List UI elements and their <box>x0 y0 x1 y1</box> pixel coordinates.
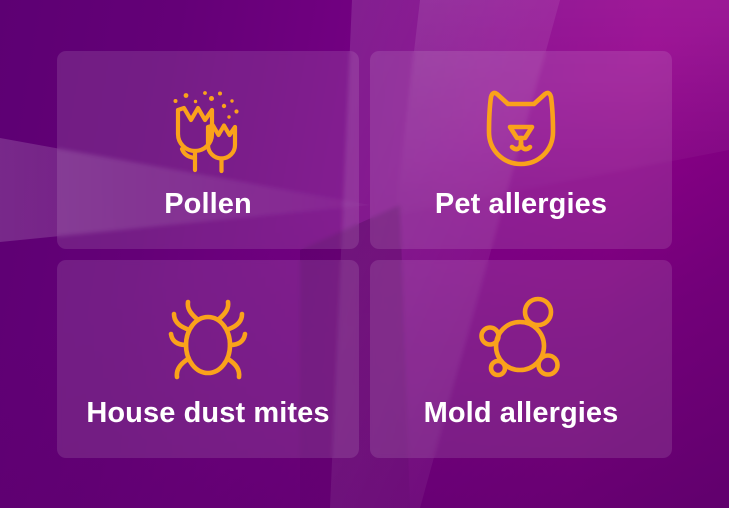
icon-wrap-mold-allergies <box>476 293 566 385</box>
allergy-card-grid: Pollen Pet allergies <box>57 51 672 458</box>
icon-wrap-house-dust-mites <box>164 293 252 385</box>
dust-mite-bug-icon <box>164 295 252 383</box>
card-label-pet-allergies: Pet allergies <box>435 189 607 221</box>
card-label-mold-allergies: Mold allergies <box>424 398 619 430</box>
icon-wrap-pollen <box>162 84 254 176</box>
card-label-house-dust-mites: House dust mites <box>86 398 329 430</box>
allergy-categories-screen: Pollen Pet allergies <box>0 0 729 508</box>
card-pollen[interactable]: Pollen <box>57 51 359 249</box>
card-pet-allergies[interactable]: Pet allergies <box>370 51 672 249</box>
icon-wrap-pet-allergies <box>477 84 565 176</box>
card-mold-allergies[interactable]: Mold allergies <box>370 260 672 458</box>
card-house-dust-mites[interactable]: House dust mites <box>57 260 359 458</box>
card-label-pollen: Pollen <box>164 189 252 221</box>
mold-spores-icon <box>476 294 566 384</box>
tulip-flowers-icon <box>162 84 254 176</box>
cat-face-icon <box>477 86 565 174</box>
